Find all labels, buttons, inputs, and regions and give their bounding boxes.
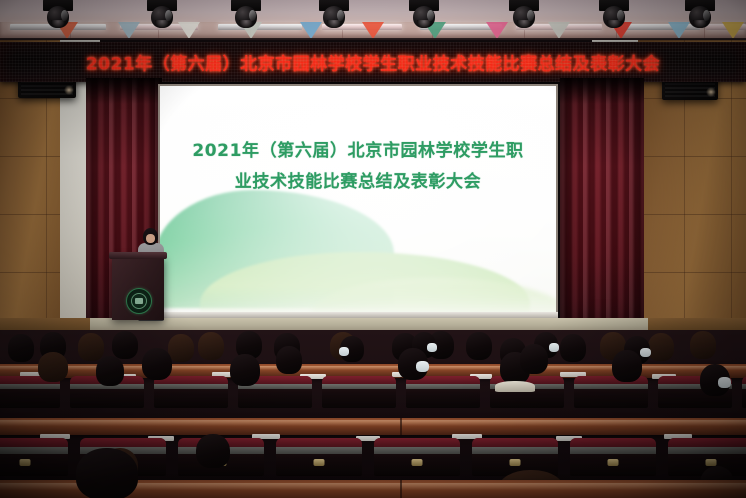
slide-title-line2: 业技术技能比赛总结及表彰大会	[160, 167, 556, 198]
audience-member	[648, 333, 674, 361]
spotlight-glint	[527, 10, 534, 21]
seat-crest	[276, 438, 362, 447]
seat	[276, 438, 362, 476]
seat-crest	[472, 438, 558, 447]
person-head	[198, 332, 224, 360]
bunting-flag-icon	[722, 22, 744, 39]
audience-member	[520, 344, 548, 374]
person-head	[690, 331, 716, 359]
projection-screen: 2021年（第六届）北京市园林学校学生职 业技术技能比赛总结及表彰大会	[160, 86, 556, 318]
curtain-top-shadow	[560, 78, 644, 104]
led-banner-text: 2021年（第六届）北京市园林学校学生职业技术技能比赛总结及表彰大会	[0, 50, 746, 75]
seat-crest	[742, 376, 746, 384]
seat-band	[0, 384, 60, 389]
person-head	[8, 334, 34, 362]
audience-member	[276, 346, 302, 374]
seat-band	[322, 384, 396, 389]
seat-band	[742, 384, 746, 389]
podium	[112, 256, 164, 320]
led-banner: 2021年（第六届）北京市园林学校学生职业技术技能比赛总结及表彰大会	[0, 42, 746, 82]
seat-band	[668, 447, 746, 453]
person-head	[196, 434, 230, 468]
face-mask	[549, 343, 559, 352]
face-mask	[427, 343, 437, 352]
slide-title: 2021年（第六届）北京市园林学校学生职 业技术技能比赛总结及表彰大会	[160, 136, 556, 198]
seat-number-plate	[20, 459, 31, 466]
seat	[406, 376, 480, 408]
desk-sheen	[0, 420, 746, 426]
audience-member	[38, 352, 68, 382]
seat-band	[154, 384, 228, 389]
face-mask	[339, 347, 349, 356]
seat-band	[570, 447, 656, 453]
spotlight-glint	[617, 10, 624, 21]
person-collar	[495, 381, 536, 392]
seat-crest	[322, 376, 396, 384]
seat-crest	[570, 438, 656, 447]
seat	[374, 438, 460, 476]
stage-spotlight-icon	[507, 0, 541, 30]
audience-member	[76, 448, 138, 498]
person-head	[520, 344, 548, 374]
ceiling	[0, 0, 746, 44]
bunting-flag-icon	[178, 22, 200, 39]
person-head	[560, 334, 586, 362]
person-head	[466, 332, 492, 360]
seat-band	[0, 447, 68, 453]
audience-seating-area	[0, 330, 746, 498]
stage-spotlight-icon	[41, 0, 75, 30]
person-head	[142, 348, 172, 380]
spotlight-glint	[61, 10, 68, 21]
spotlight-glint	[427, 10, 434, 21]
seat	[322, 376, 396, 408]
bunting-flag-icon	[486, 22, 508, 39]
seat-number-plate	[314, 459, 325, 466]
face-mask	[416, 361, 429, 372]
stage-spotlight-icon	[145, 0, 179, 30]
auditorium-photo: 2021年（第六届）北京市园林学校学生职业技术技能比赛总结及表彰大会 2021年…	[0, 0, 746, 498]
person-head	[38, 352, 68, 382]
person-head	[648, 333, 674, 361]
person-head	[112, 331, 138, 359]
desk-split	[400, 418, 402, 435]
seat-band	[374, 447, 460, 453]
bunting-flag-icon	[362, 22, 384, 39]
spotlight-glint	[165, 10, 172, 21]
stage-spotlight-icon	[407, 0, 441, 30]
spotlight-glint	[703, 10, 710, 21]
seat	[742, 376, 746, 408]
presenter-face	[146, 234, 155, 243]
audience-member	[142, 348, 172, 380]
person-head	[230, 354, 260, 386]
face-mask	[718, 377, 731, 388]
spotlight-glint	[249, 10, 256, 21]
seat-crest	[374, 438, 460, 447]
stage-spotlight-icon	[597, 0, 631, 30]
audience-member	[612, 350, 642, 382]
podium-top	[109, 252, 167, 259]
audience-member	[700, 364, 730, 396]
audience-member	[398, 348, 428, 380]
audience-member	[690, 331, 716, 359]
audience-member	[340, 336, 364, 362]
seat	[570, 438, 656, 476]
person-head	[612, 350, 642, 382]
audience-member	[8, 334, 34, 362]
desk-row	[0, 418, 746, 435]
seat-number-plate	[608, 459, 619, 466]
speaker-highlight	[706, 87, 716, 97]
stage-spotlight-icon	[683, 0, 717, 30]
audience-member	[230, 354, 260, 386]
desk-split	[400, 480, 402, 498]
audience-member	[196, 434, 230, 468]
seat-band	[406, 384, 480, 389]
seat-band	[574, 384, 648, 389]
bunting-flag-icon	[118, 22, 140, 39]
person-head	[96, 356, 124, 386]
person-head	[76, 448, 138, 498]
audience-member	[112, 331, 138, 359]
speaker-highlight	[64, 85, 74, 95]
stage-spotlight-icon	[229, 0, 263, 30]
seat-number-plate	[510, 459, 521, 466]
audience-member	[560, 334, 586, 362]
slide-title-line1: 2021年（第六届）北京市园林学校学生职	[192, 141, 523, 161]
spotlight-glint	[337, 10, 344, 21]
school-emblem-icon	[126, 288, 152, 314]
seat-crest	[80, 438, 166, 447]
seat	[0, 438, 68, 476]
audience-member	[96, 356, 124, 386]
audience-member	[198, 332, 224, 360]
curtain-top-shadow	[86, 78, 162, 104]
bunting-flag-icon	[548, 22, 570, 39]
seat-band	[472, 447, 558, 453]
audience-member	[466, 332, 492, 360]
seat-crest	[668, 438, 746, 447]
projection-screen-frame: 2021年（第六届）北京市园林学校学生职 业技术技能比赛总结及表彰大会	[158, 84, 558, 320]
seat	[154, 376, 228, 408]
person-head	[276, 346, 302, 374]
seat-number-plate	[412, 459, 423, 466]
seat-band	[276, 447, 362, 453]
stage-spotlight-icon	[317, 0, 351, 30]
seat-crest	[0, 438, 68, 447]
stage-curtain-right	[560, 78, 644, 330]
